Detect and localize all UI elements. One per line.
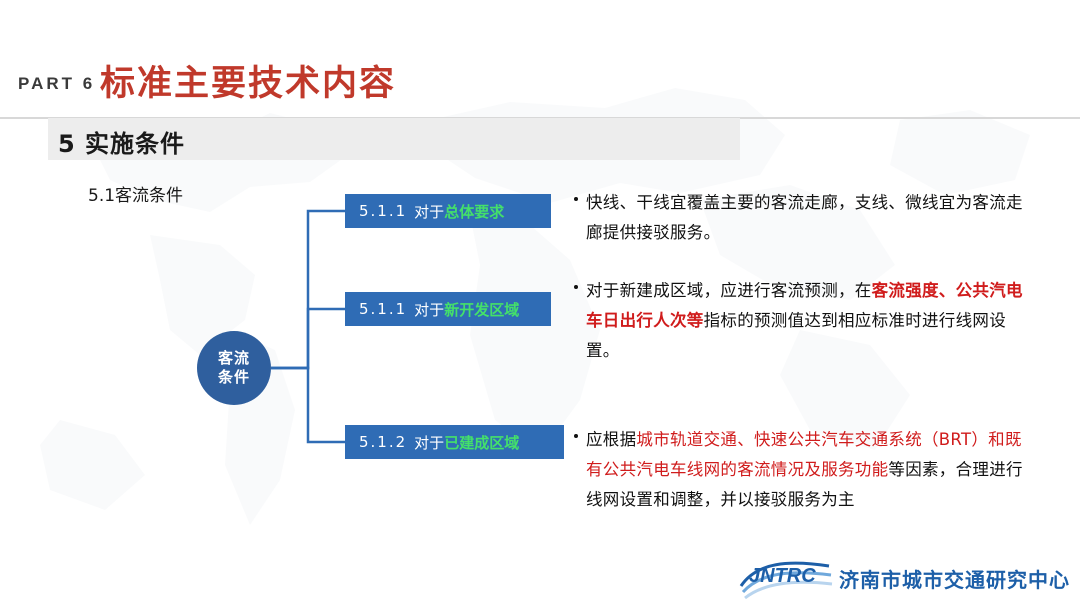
diagram-branch-2[interactable]: 5.1.1 对于 新开发区域 — [345, 292, 551, 326]
branch-2-prefix: 对于 — [414, 299, 444, 320]
branch-3-highlight: 已建成区域 — [444, 432, 519, 453]
bullet-segment: 应根据 — [586, 430, 636, 449]
flow-diagram: 客流 条件 5.1.1 对于 总体要求 5.1.1 对于 新开发区域 5.1.2… — [170, 185, 570, 485]
branch-2-number: 5.1.1 — [359, 300, 407, 318]
bullet-dot-icon — [574, 285, 578, 289]
bullet-dot-icon — [574, 197, 578, 201]
jntrc-logo-icon: JNTRC — [737, 556, 833, 600]
bullet-dot-icon — [574, 434, 578, 438]
bullet-2-text: 对于新建成区域，应进行客流预测，在客流强度、公共汽电车日出行人次等指标的预测值达… — [572, 276, 1034, 366]
diagram-branch-3[interactable]: 5.1.2 对于 已建成区域 — [345, 425, 564, 459]
footer-branding: JNTRC 济南市城市交通研究中心 — [737, 555, 1070, 601]
page-title: 标准主要技术内容 — [100, 55, 396, 106]
branch-3-prefix: 对于 — [414, 432, 444, 453]
slide-header: PART 6 标准主要技术内容 — [0, 28, 1080, 90]
logo-wordmark: JNTRC — [749, 565, 816, 588]
branch-1-highlight: 总体要求 — [444, 201, 504, 222]
bullet-item-3: 应根据城市轨道交通、快速公共汽车交通系统（BRT）和既有公共汽电车线网的客流情况… — [572, 425, 1034, 515]
diagram-center-node: 客流 条件 — [197, 331, 271, 405]
bullet-1-text: 快线、干线宜覆盖主要的客流走廊，支线、微线宜为客流走廊提供接驳服务。 — [572, 188, 1034, 248]
branch-1-prefix: 对于 — [414, 201, 444, 222]
branch-2-highlight: 新开发区域 — [444, 299, 519, 320]
center-node-line1: 客流 — [218, 349, 250, 368]
section-title: 5 实施条件 — [58, 124, 185, 159]
organization-name: 济南市城市交通研究中心 — [839, 564, 1070, 593]
branch-1-number: 5.1.1 — [359, 202, 407, 220]
diagram-branch-1[interactable]: 5.1.1 对于 总体要求 — [345, 194, 551, 228]
slide-root: PART 6 标准主要技术内容 5 实施条件 5.1客流条件 客流 条件 5.1… — [0, 0, 1080, 609]
center-node-line2: 条件 — [218, 368, 250, 387]
subsection-label: 5.1客流条件 — [88, 181, 183, 206]
bullet-item-2: 对于新建成区域，应进行客流预测，在客流强度、公共汽电车日出行人次等指标的预测值达… — [572, 276, 1034, 366]
bullet-segment: 快线、干线宜覆盖主要的客流走廊，支线、微线宜为客流走廊提供接驳服务。 — [586, 193, 1023, 242]
branch-3-number: 5.1.2 — [359, 433, 407, 451]
bullet-item-1: 快线、干线宜覆盖主要的客流走廊，支线、微线宜为客流走廊提供接驳服务。 — [572, 188, 1034, 248]
part-label: PART 6 — [18, 74, 95, 94]
bullet-3-text: 应根据城市轨道交通、快速公共汽车交通系统（BRT）和既有公共汽电车线网的客流情况… — [572, 425, 1034, 515]
bullet-segment: 对于新建成区域，应进行客流预测，在 — [586, 281, 872, 300]
